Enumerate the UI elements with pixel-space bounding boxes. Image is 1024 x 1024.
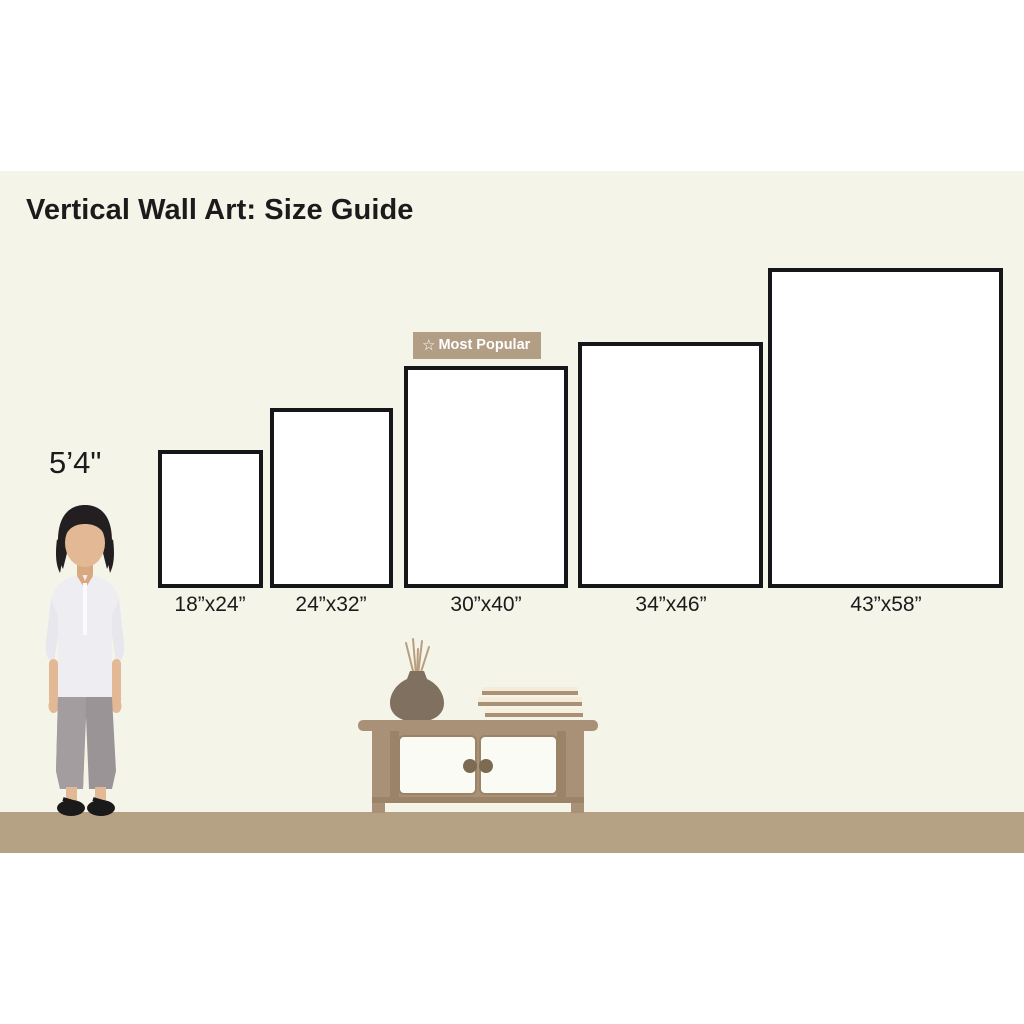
most-popular-badge: ☆Most Popular [413,332,541,359]
frame-label-18x24: 18”x24” [174,593,245,617]
star-outline-icon: ☆ [422,337,435,354]
reference-height-label: 5’4" [49,445,101,481]
frame-18x24[interactable] [158,450,263,588]
cabinet-knob-right [479,759,493,773]
frame-43x58[interactable] [768,268,1003,588]
frame-label-34x46: 34”x46” [635,593,706,617]
console-table-svg [352,621,604,813]
frame-label-24x32: 24”x32” [295,593,366,617]
size-guide-canvas: Vertical Wall Art: Size Guide 5’4" [0,0,1024,1024]
reference-person-figure [24,503,146,823]
room-scene: Vertical Wall Art: Size Guide 5’4" [0,171,1024,853]
console-table [352,621,604,813]
frame-label-43x58: 43”x58” [850,593,921,617]
frame-24x32[interactable] [270,408,393,588]
person-svg [24,503,146,823]
floor-band [0,812,1024,853]
most-popular-badge-label: Most Popular [438,337,530,353]
cabinet-knob-left [463,759,477,773]
frame-label-30x40: 30”x40” [450,593,521,617]
frame-34x46[interactable] [578,342,763,588]
page-title: Vertical Wall Art: Size Guide [26,194,414,227]
frame-30x40[interactable] [404,366,568,588]
